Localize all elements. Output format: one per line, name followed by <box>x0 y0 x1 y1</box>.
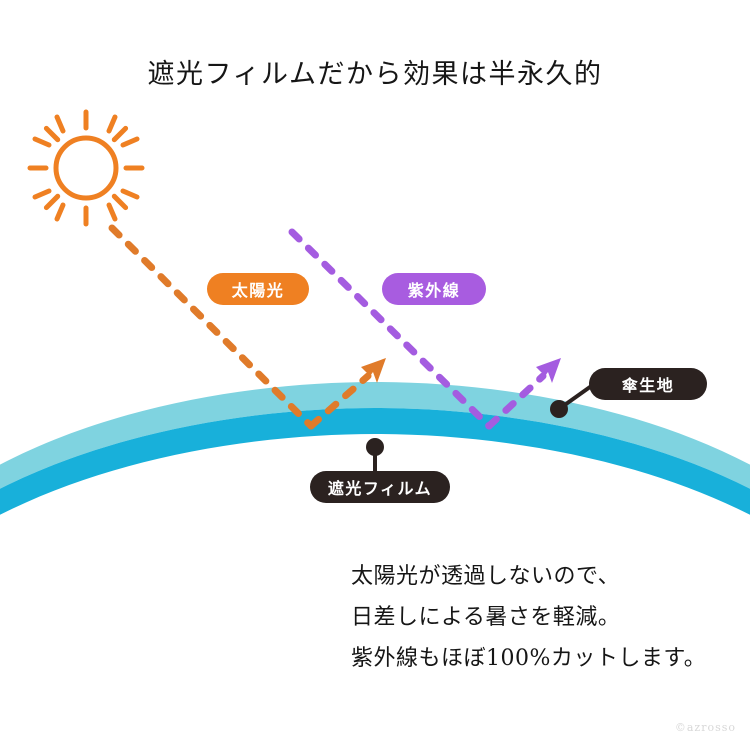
illustration-canvas: 遮光フィルムだから効果は半永久的 太陽光 紫外線 遮光フィルム 傘生地 太陽光が… <box>0 0 750 750</box>
callout-tag-film: 遮光フィルム <box>310 471 450 503</box>
description-block: 太陽光が透過しないので、 日差しによる暑さを軽減。 紫外線もほぼ100%カットし… <box>351 556 750 679</box>
sun-icon <box>30 112 142 224</box>
legend-pill-uv: 紫外線 <box>382 273 486 305</box>
fabric-dot <box>550 400 568 418</box>
description-line-2: 日差しによる暑さを軽減。 <box>351 597 750 638</box>
description-line-1: 太陽光が透過しないので、 <box>351 556 750 597</box>
film-dot <box>366 438 384 456</box>
page-title: 遮光フィルムだから効果は半永久的 <box>0 52 750 91</box>
legend-pill-sunlight: 太陽光 <box>207 273 309 305</box>
description-line-3: 紫外線もほぼ100%カットします。 <box>351 638 750 679</box>
callout-tag-fabric: 傘生地 <box>589 368 707 400</box>
watermark: ©azrosso <box>675 721 736 734</box>
